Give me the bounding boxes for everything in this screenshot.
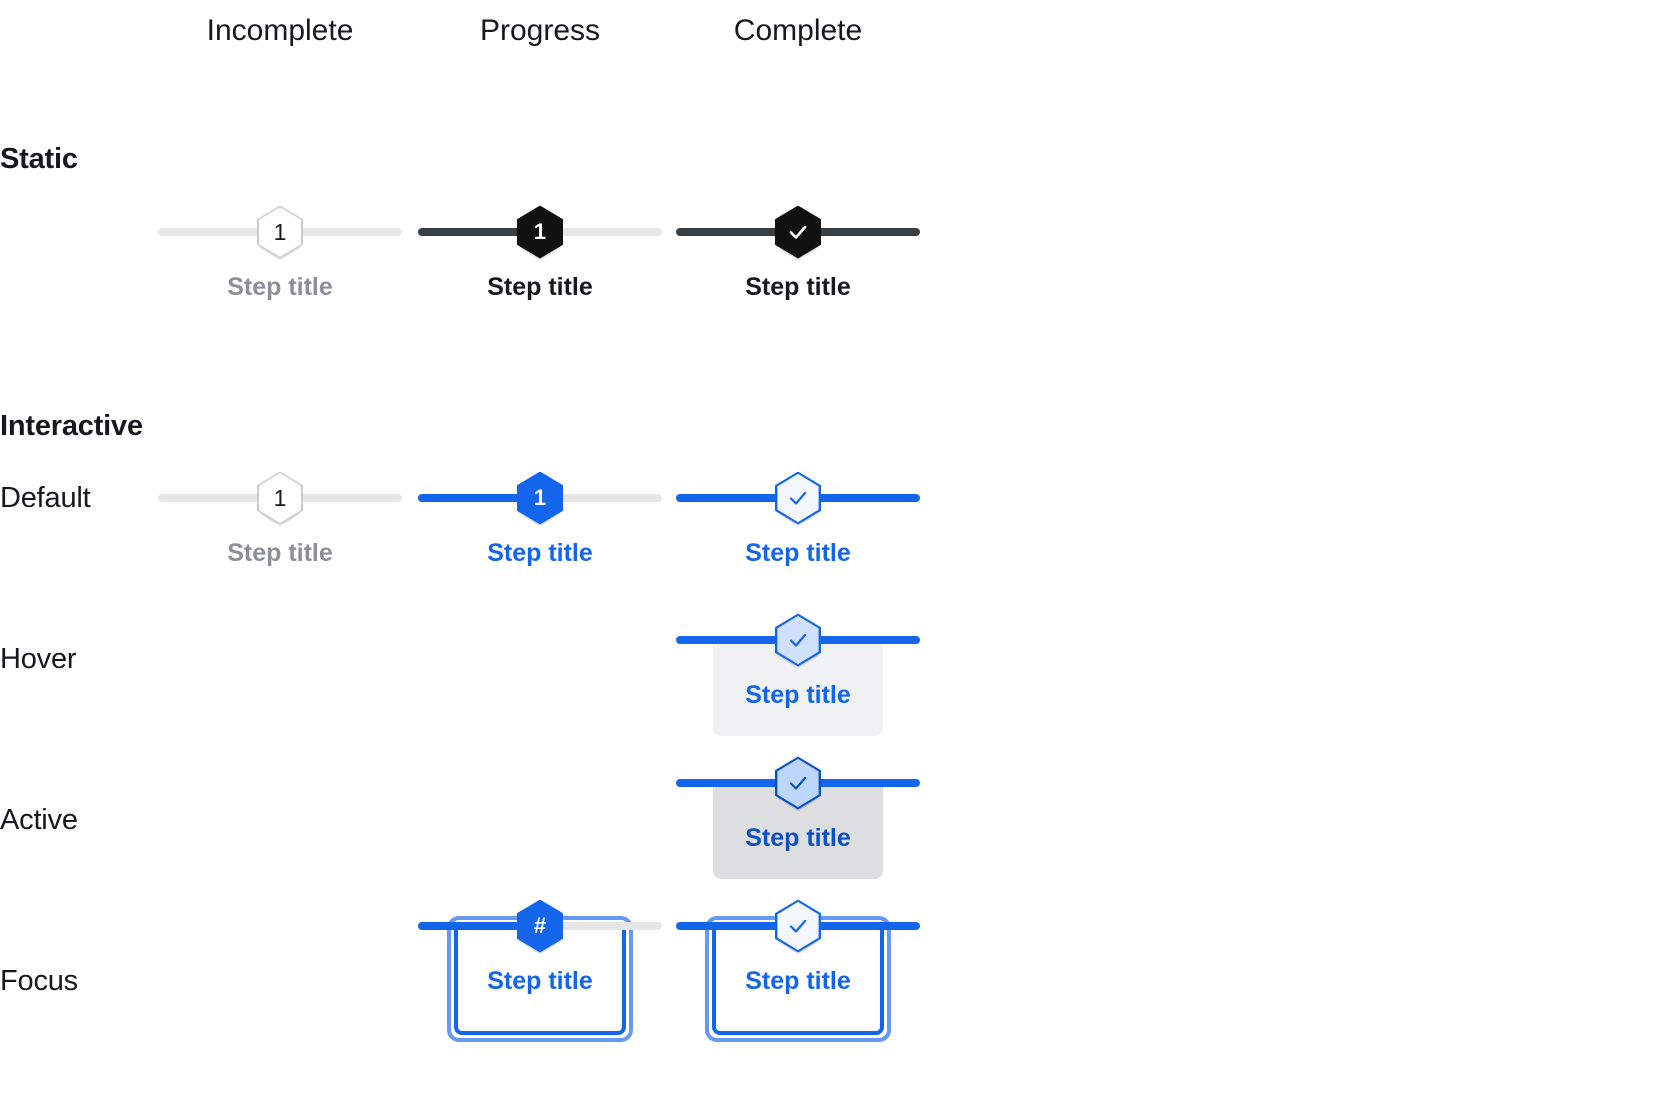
row-label-hover: Hover [0, 643, 76, 676]
step-number-label: 1 [534, 487, 546, 509]
check-icon [786, 914, 810, 938]
check-icon [786, 628, 810, 652]
step-track [668, 614, 928, 666]
column-header-incomplete: Incomplete [207, 14, 354, 48]
step-track [668, 900, 928, 952]
step-title: Step title [150, 540, 410, 568]
step-marker-hexagon: 1 [257, 206, 303, 259]
step-track [668, 206, 928, 258]
step-track: 1 [150, 206, 410, 258]
step-title: Step title [150, 274, 410, 302]
step-focus-complete[interactable]: Step title [668, 900, 928, 996]
step-default-complete[interactable]: Step title [668, 472, 928, 568]
row-label-focus: Focus [0, 965, 78, 998]
column-header-progress: Progress [480, 14, 600, 48]
step-static-incomplete: 1 Step title [150, 206, 410, 302]
step-marker-hexagon [775, 206, 821, 259]
step-number-placeholder-label: # [534, 915, 546, 937]
step-default-progress[interactable]: 1 Step title [410, 472, 670, 568]
step-marker-hexagon[interactable]: # [517, 900, 563, 953]
step-marker-hexagon[interactable] [775, 900, 821, 953]
section-label-interactive: Interactive [0, 410, 143, 443]
step-marker-hexagon[interactable]: 1 [517, 472, 563, 525]
step-title: Step title [668, 968, 928, 996]
step-title: Step title [410, 540, 670, 568]
step-static-progress: 1 Step title [410, 206, 670, 302]
step-track [668, 472, 928, 524]
check-icon [786, 220, 810, 244]
step-title: Step title [668, 540, 928, 568]
step-marker-hexagon[interactable] [775, 614, 821, 667]
check-icon [786, 486, 810, 510]
check-icon [786, 771, 810, 795]
step-number-label: 1 [274, 487, 287, 510]
step-track [668, 757, 928, 809]
step-static-complete: Step title [668, 206, 928, 302]
step-hover-complete[interactable]: Step title [668, 614, 928, 710]
step-default-incomplete[interactable]: 1 Step title [150, 472, 410, 568]
stepper-specimen-sheet: Incomplete Progress Complete Static 1 St… [0, 0, 1672, 1100]
step-marker-hexagon: 1 [517, 206, 563, 259]
step-active-complete[interactable]: Step title [668, 757, 928, 853]
step-marker-hexagon[interactable] [775, 472, 821, 525]
step-track: 1 [410, 472, 670, 524]
step-marker-hexagon[interactable] [775, 757, 821, 810]
step-title: Step title [668, 682, 928, 710]
step-track: # [410, 900, 670, 952]
step-number-label: 1 [534, 221, 546, 243]
section-label-static: Static [0, 143, 78, 176]
step-title: Step title [410, 968, 670, 996]
step-title: Step title [410, 274, 670, 302]
column-header-complete: Complete [734, 14, 862, 48]
step-marker-hexagon[interactable]: 1 [257, 472, 303, 525]
step-number-label: 1 [274, 221, 287, 244]
step-track: 1 [410, 206, 670, 258]
row-label-default: Default [0, 482, 91, 515]
step-title: Step title [668, 274, 928, 302]
row-label-active: Active [0, 804, 78, 837]
step-track: 1 [150, 472, 410, 524]
step-title: Step title [668, 825, 928, 853]
step-focus-progress[interactable]: # Step title [410, 900, 670, 996]
